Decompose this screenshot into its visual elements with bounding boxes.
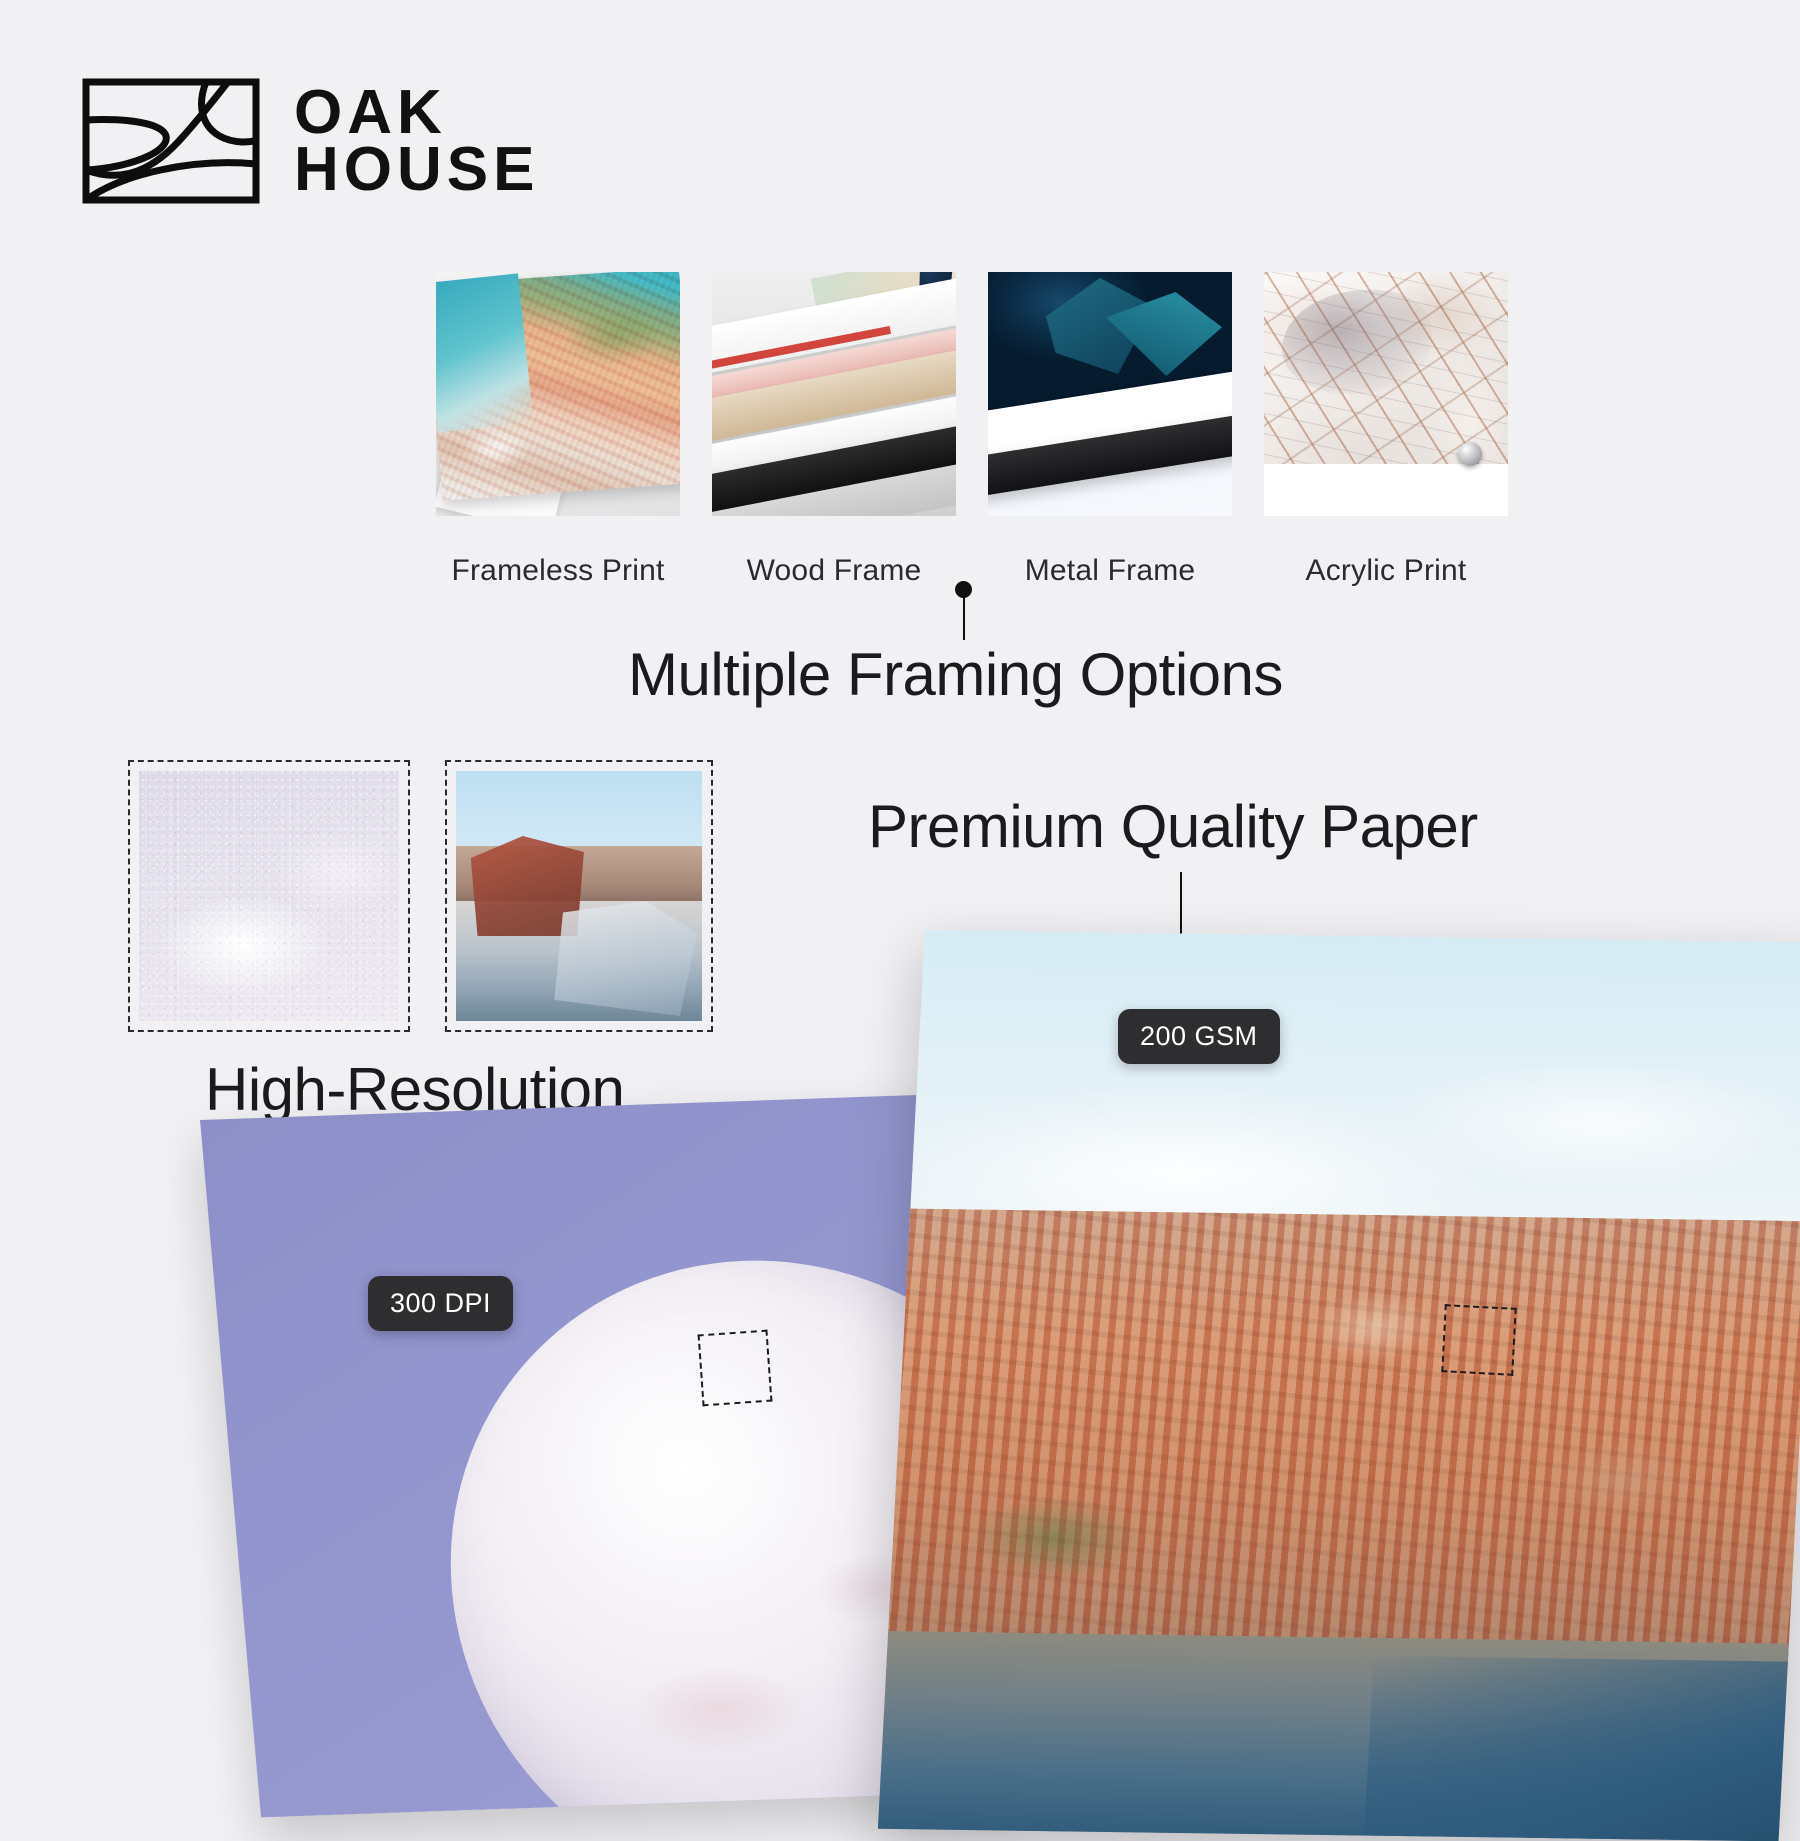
framing-option-label: Metal Frame: [988, 554, 1232, 588]
framing-option-label: Wood Frame: [712, 554, 956, 588]
oak-house-landscape-mark-icon: [82, 78, 260, 204]
resolution-detail-box: [698, 1330, 773, 1407]
framing-headline: Multiple Framing Options: [628, 640, 1283, 709]
frameless-print-thumbnail-icon: [436, 272, 680, 516]
framing-options-list: Frameless Print Wood Frame Metal Frame: [436, 272, 1508, 588]
gsm-badge: 200 GSM: [1118, 1009, 1280, 1064]
brand-logo: OAK HOUSE: [82, 78, 539, 204]
brand-wordmark: OAK HOUSE: [294, 84, 539, 198]
framing-option-wood-frame[interactable]: Wood Frame: [712, 272, 956, 588]
brand-name-line-2: HOUSE: [294, 141, 539, 198]
framing-option-label: Acrylic Print: [1264, 554, 1508, 588]
dpi-badge: 300 DPI: [368, 1276, 513, 1331]
cliff-texture-swatch: [445, 760, 713, 1032]
metal-frame-thumbnail-icon: [988, 272, 1232, 516]
paper-detail-box: [1441, 1304, 1516, 1376]
poster-infographic-canvas: OAK HOUSE Frameless Print Wood Frame: [0, 0, 1800, 1800]
cloud-texture-swatch: [128, 760, 410, 1032]
coastal-town-poster: [878, 930, 1800, 1841]
acrylic-print-thumbnail-icon: [1264, 272, 1508, 516]
paper-headline: Premium Quality Paper: [868, 792, 1478, 861]
framing-option-frameless-print[interactable]: Frameless Print: [436, 272, 680, 588]
framing-callout-line: [963, 592, 965, 640]
brand-name-line-1: OAK: [294, 84, 539, 141]
wood-frame-thumbnail-icon: [712, 272, 956, 516]
framing-option-metal-frame[interactable]: Metal Frame: [988, 272, 1232, 588]
framing-option-label: Frameless Print: [436, 554, 680, 588]
framing-option-acrylic-print[interactable]: Acrylic Print: [1264, 272, 1508, 588]
